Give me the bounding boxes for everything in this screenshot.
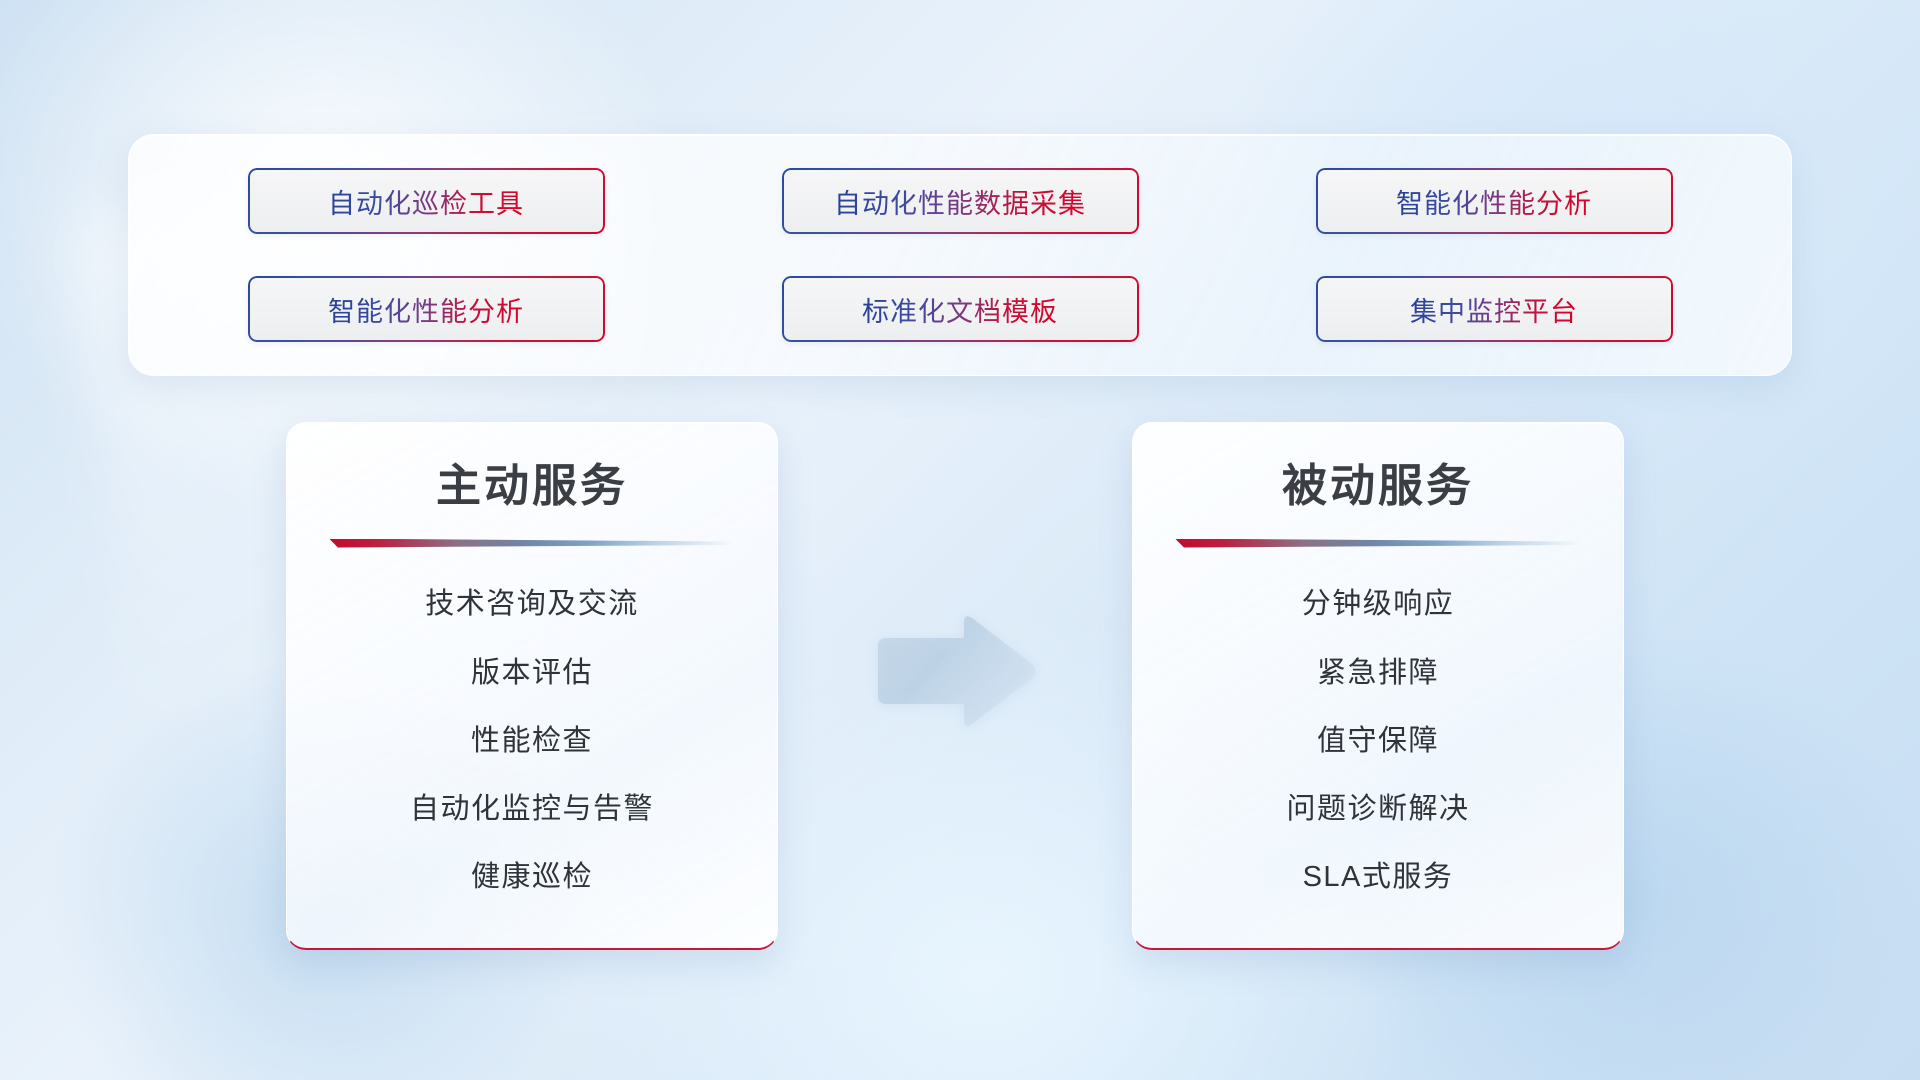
proactive-card-title: 主动服务: [327, 461, 737, 511]
tool-chip-label: 智能化性能分析: [328, 290, 524, 329]
list-item: 技术咨询及交流: [425, 587, 639, 622]
slide-canvas: 自动化巡检工具 自动化性能数据采集 智能化性能分析 智能化性能分析 标准化文档模…: [0, 0, 1920, 1080]
list-item: 分钟级响应: [1302, 587, 1455, 622]
tool-chip-standard-doc-template[interactable]: 标准化文档模板: [782, 276, 1139, 342]
list-item: 自动化监控与告警: [410, 792, 654, 827]
list-item: 性能检查: [471, 724, 593, 759]
tool-chip-label: 智能化性能分析: [1396, 182, 1592, 221]
tool-chip-smart-perf-analysis-2[interactable]: 智能化性能分析: [248, 276, 605, 342]
tool-chip-central-monitor-platform[interactable]: 集中监控平台: [1316, 276, 1673, 342]
proactive-service-list: 技术咨询及交流 版本评估 性能检查 自动化监控与告警 健康巡检: [327, 553, 737, 919]
card-divider-bar: [1175, 539, 1581, 548]
proactive-service-card[interactable]: 主动服务 技术咨询及交流 版本评估 性能检查 自动化监控与告警 健康巡检: [286, 422, 778, 950]
tool-chip-label: 自动化性能数据采集: [834, 182, 1086, 221]
reactive-service-card[interactable]: 被动服务 分钟级响应 紧急排障 值守保障 问题诊断解决 SLA式服务: [1132, 422, 1624, 950]
capability-tools-panel: 自动化巡检工具 自动化性能数据采集 智能化性能分析 智能化性能分析 标准化文档模…: [128, 134, 1792, 376]
list-item: 健康巡检: [471, 860, 593, 895]
tool-chip-auto-inspection-tool[interactable]: 自动化巡检工具: [248, 168, 605, 234]
card-divider-bar: [329, 539, 735, 548]
card-divider: [329, 537, 735, 553]
tool-chip-smart-perf-analysis-1[interactable]: 智能化性能分析: [1316, 168, 1673, 234]
tool-chip-label: 自动化巡检工具: [328, 182, 524, 221]
tool-chip-auto-perf-collection[interactable]: 自动化性能数据采集: [782, 168, 1139, 234]
tool-chip-label: 集中监控平台: [1410, 290, 1578, 329]
reactive-service-list: 分钟级响应 紧急排障 值守保障 问题诊断解决 SLA式服务: [1173, 553, 1583, 919]
card-divider: [1175, 537, 1581, 553]
list-item: SLA式服务: [1303, 860, 1454, 895]
tool-chip-label: 标准化文档模板: [862, 290, 1058, 329]
arrow-right-icon: [872, 612, 1038, 730]
list-item: 紧急排障: [1317, 656, 1439, 691]
list-item: 问题诊断解决: [1286, 792, 1469, 827]
list-item: 版本评估: [471, 656, 593, 691]
list-item: 值守保障: [1317, 724, 1439, 759]
reactive-card-title: 被动服务: [1173, 461, 1583, 511]
